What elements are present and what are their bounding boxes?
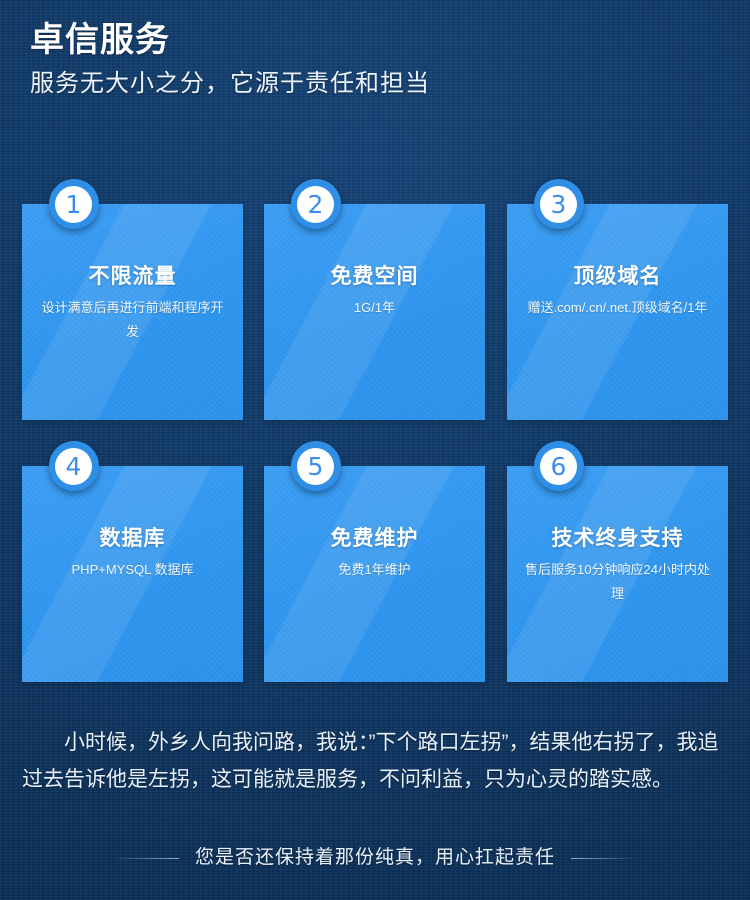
- card-number-badge: 2: [291, 179, 341, 229]
- badge-inner-circle: 1: [55, 186, 92, 223]
- page-header: 卓信服务 服务无大小之分，它源于责任和担当: [30, 18, 720, 100]
- card-description: 售后服务10分钟响应24小时内处理: [521, 558, 714, 606]
- service-card-5[interactable]: 5 免费维护 免费1年维护: [264, 466, 485, 682]
- service-card-4[interactable]: 4 数据库 PHP+MYSQL 数据库: [22, 466, 243, 682]
- card-row-2: 4 数据库 PHP+MYSQL 数据库 5 免费维护 免费1年维护: [22, 466, 728, 682]
- card-description: 设计满意后再进行前端和程序开发: [36, 296, 229, 344]
- page-subtitle: 服务无大小之分，它源于责任和担当: [30, 68, 720, 100]
- service-promo-page: 卓信服务 服务无大小之分，它源于责任和担当 1 不限流量 设计满意后再进行前端和…: [0, 0, 750, 900]
- card-description: 免费1年维护: [278, 558, 471, 582]
- badge-inner-circle: 2: [297, 186, 334, 223]
- badge-inner-circle: 3: [540, 186, 577, 223]
- card-description: 赠送.com/.cn/.net.顶级域名/1年: [521, 296, 714, 320]
- card-title: 顶级域名: [507, 260, 728, 290]
- card-description: 1G/1年: [278, 296, 471, 320]
- card-title: 技术终身支持: [507, 522, 728, 552]
- badge-inner-circle: 5: [297, 448, 334, 485]
- card-number-badge: 6: [534, 441, 584, 491]
- badge-inner-circle: 4: [55, 448, 92, 485]
- service-card-1[interactable]: 1 不限流量 设计满意后再进行前端和程序开发: [22, 204, 243, 420]
- card-title: 数据库: [22, 522, 243, 552]
- card-title: 免费维护: [264, 522, 485, 552]
- service-card-grid: 1 不限流量 设计满意后再进行前端和程序开发 2 免费空间 1G/1年: [22, 204, 728, 682]
- service-card-6[interactable]: 6 技术终身支持 售后服务10分钟响应24小时内处理: [507, 466, 728, 682]
- divider-right: [571, 858, 635, 859]
- card-title: 不限流量: [22, 260, 243, 290]
- card-number-badge: 4: [49, 441, 99, 491]
- card-description: PHP+MYSQL 数据库: [36, 558, 229, 582]
- story-paragraph: 小时候，外乡人向我问路，我说：”下个路口左拐”，结果他右拐了，我追过去告诉他是左…: [22, 724, 730, 798]
- badge-number-label: 6: [551, 454, 567, 479]
- badge-number-label: 1: [66, 192, 82, 217]
- badge-number-label: 2: [308, 192, 324, 217]
- service-card-2[interactable]: 2 免费空间 1G/1年: [264, 204, 485, 420]
- card-number-badge: 5: [291, 441, 341, 491]
- badge-inner-circle: 6: [540, 448, 577, 485]
- card-title: 免费空间: [264, 260, 485, 290]
- footer-slogan: 您是否还保持着那份纯真，用心扛起责任: [179, 845, 571, 871]
- card-number-badge: 1: [49, 179, 99, 229]
- page-title: 卓信服务: [30, 18, 720, 62]
- card-row-1: 1 不限流量 设计满意后再进行前端和程序开发 2 免费空间 1G/1年: [22, 204, 728, 420]
- card-number-badge: 3: [534, 179, 584, 229]
- badge-number-label: 3: [551, 192, 567, 217]
- divider-left: [115, 858, 179, 859]
- badge-number-label: 5: [308, 454, 324, 479]
- service-card-3[interactable]: 3 顶级域名 赠送.com/.cn/.net.顶级域名/1年: [507, 204, 728, 420]
- footer-slogan-block: 您是否还保持着那份纯真，用心扛起责任: [0, 845, 750, 871]
- badge-number-label: 4: [66, 454, 82, 479]
